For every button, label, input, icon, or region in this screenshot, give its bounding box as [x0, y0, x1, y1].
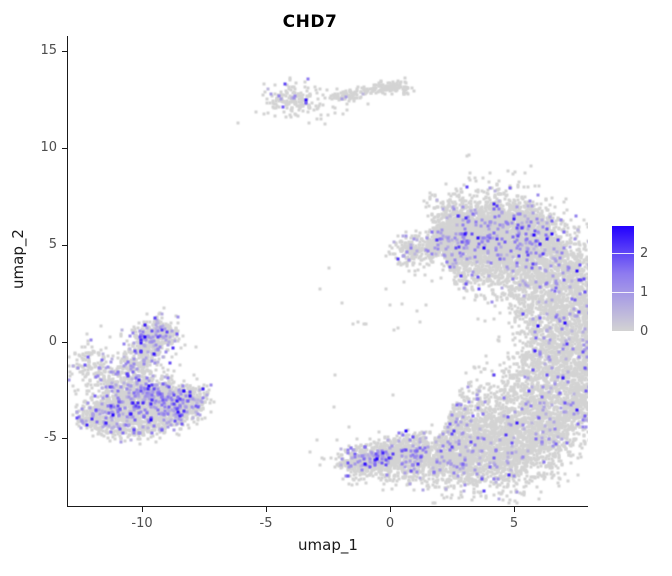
x-tick-label: 5: [510, 516, 518, 531]
y-tick-label-wrap: -5: [0, 430, 57, 446]
y-tick-label: 10: [0, 140, 57, 155]
x-tick-label: -10: [131, 516, 152, 531]
colorbar-tick-label: 1: [640, 286, 648, 299]
y-tick-label: 15: [0, 43, 57, 58]
umap-feature-plot: CHD7 -5051015 -10-505 umap_1 umap_2 012: [0, 0, 672, 576]
x-axis-title: umap_1: [68, 536, 588, 554]
y-tick-label-wrap: 10: [0, 140, 57, 156]
colorbar-gradient: [612, 226, 634, 331]
colorbar-tick-mark: [612, 292, 634, 293]
y-tick-mark: [62, 438, 67, 439]
colorbar-legend: 012: [612, 226, 672, 338]
chart-title: CHD7: [0, 12, 620, 32]
x-tick-label-wrap: -5: [246, 512, 286, 530]
y-axis-title: umap_2: [9, 199, 27, 319]
y-tick-label-wrap: 0: [0, 334, 57, 350]
x-axis-line: [67, 506, 588, 507]
x-tick-label: -5: [260, 516, 273, 531]
y-tick-mark: [62, 51, 67, 52]
y-tick-mark: [62, 245, 67, 246]
y-tick-label: -5: [0, 430, 57, 445]
y-tick-mark: [62, 148, 67, 149]
colorbar-tick-label: 0: [640, 325, 648, 338]
x-tick-label-wrap: 5: [494, 512, 534, 530]
y-tick-label-wrap: 15: [0, 43, 57, 59]
colorbar-tick-mark: [612, 253, 634, 254]
colorbar-tick-label: 2: [640, 247, 648, 260]
x-tick-label: 0: [386, 516, 394, 531]
plot-panel: [68, 36, 588, 506]
scatter-points-layer: [68, 36, 588, 506]
x-tick-label-wrap: 0: [370, 512, 410, 530]
y-tick-label: 0: [0, 334, 57, 349]
y-tick-mark: [62, 342, 67, 343]
y-axis-line: [67, 36, 68, 507]
x-tick-label-wrap: -10: [122, 512, 162, 530]
